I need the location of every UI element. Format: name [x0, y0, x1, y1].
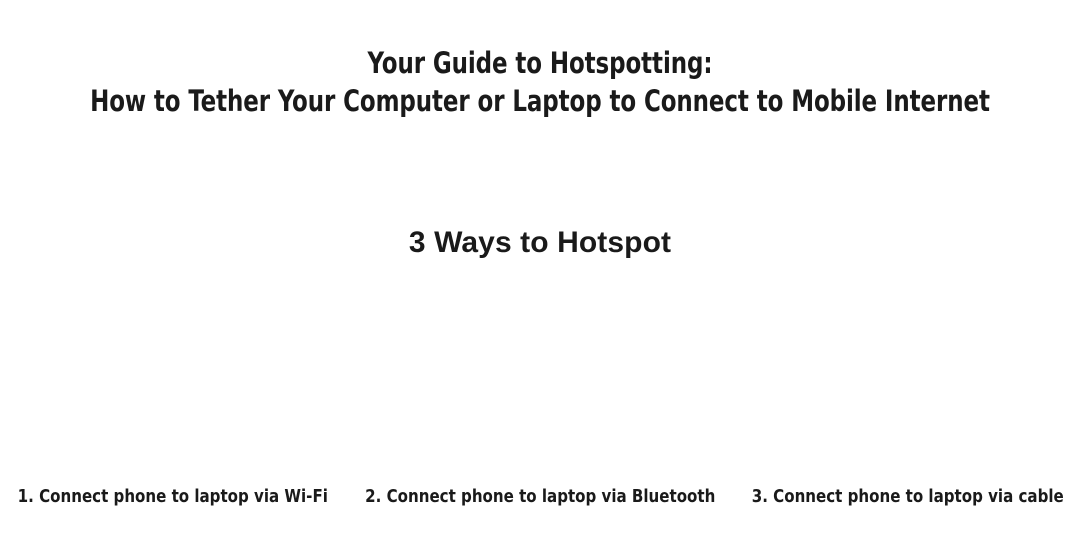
illustration-cell-bluetooth: [360, 288, 720, 474]
illustration-cell-cable: [720, 288, 1080, 474]
page-title-line-1: Your Guide to Hotspotting:: [65, 44, 1015, 82]
caption-cell-cable: 3. Connect phone to laptop via cable: [734, 484, 1080, 510]
caption-wifi: 1. Connect phone to laptop via Wi-Fi: [18, 484, 328, 510]
caption-cable: 3. Connect phone to laptop via cable: [752, 484, 1064, 510]
page-title-line-2: How to Tether Your Computer or Laptop to…: [65, 82, 1015, 120]
caption-cell-bluetooth: 2. Connect phone to laptop via Bluetooth: [346, 484, 735, 510]
infographic-page: Your Guide to Hotspotting: How to Tether…: [0, 0, 1080, 552]
illustration-cell-wifi: [0, 288, 360, 474]
hotspot-wifi-illustration: [0, 288, 360, 474]
hotspot-cable-illustration: [720, 288, 1080, 474]
caption-bluetooth: 2. Connect phone to laptop via Bluetooth: [365, 484, 715, 510]
caption-cell-wifi: 1. Connect phone to laptop via Wi-Fi: [0, 484, 346, 510]
section-heading: 3 Ways to Hotspot: [0, 224, 1080, 262]
page-title: Your Guide to Hotspotting: How to Tether…: [0, 44, 1080, 120]
illustration-row: [0, 288, 1080, 474]
caption-row: 1. Connect phone to laptop via Wi-Fi 2. …: [0, 484, 1080, 510]
hotspot-bluetooth-illustration: [360, 288, 720, 474]
